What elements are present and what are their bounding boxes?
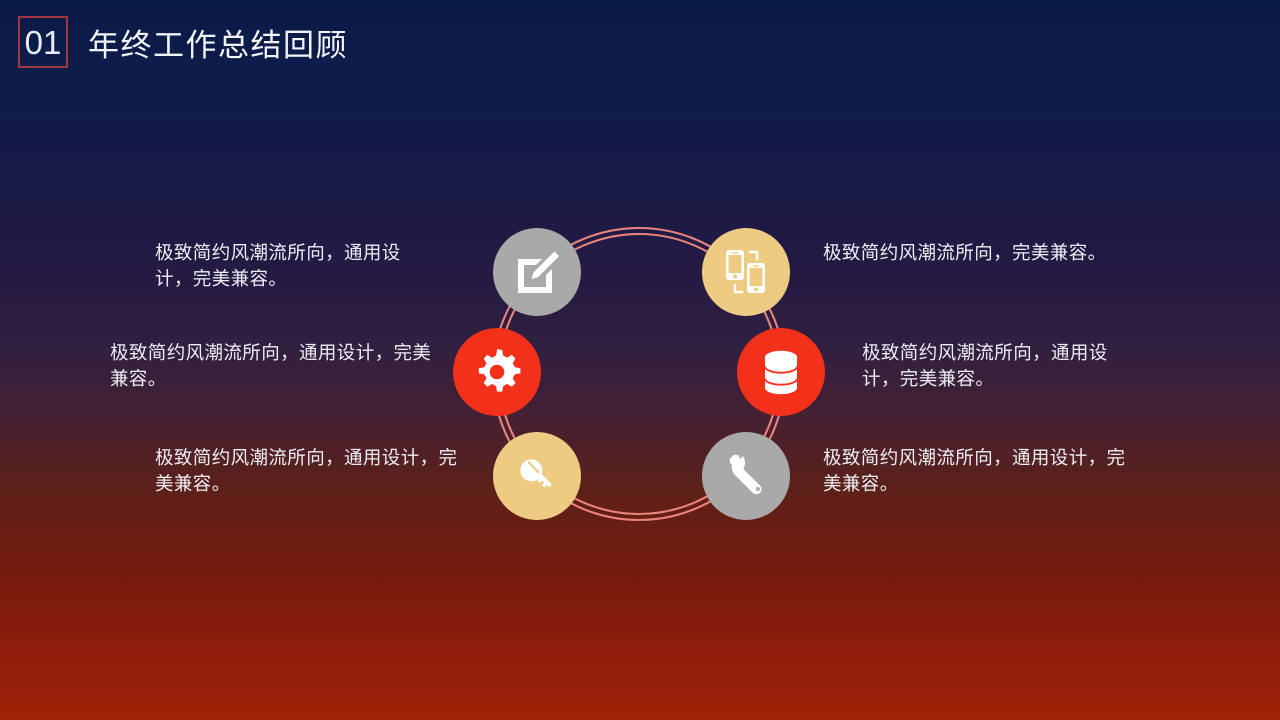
caption-top-left: 极致简约风潮流所向，通用设计，完美兼容。 (155, 241, 433, 294)
mobile-devices-icon (720, 246, 772, 298)
page-title: 年终工作总结回顾 (88, 20, 348, 65)
section-number: 01 (25, 26, 62, 59)
caption-bottom-right: 极致简约风潮流所向，通用设计，完美兼容。 (823, 446, 1143, 499)
database-icon (758, 347, 804, 397)
slide-canvas: 01 年终工作总结回顾 (0, 0, 1280, 720)
node-database[interactable] (737, 328, 825, 416)
wrench-icon (721, 451, 771, 501)
caption-top-right: 极致简约风潮流所向，完美兼容。 (823, 241, 1143, 267)
caption-middle-right: 极致简约风潮流所向，通用设计，完美兼容。 (862, 341, 1144, 394)
node-wrench[interactable] (702, 432, 790, 520)
edit-pencil-icon (513, 248, 561, 296)
key-icon (512, 451, 562, 501)
slide-header: 01 年终工作总结回顾 (0, 0, 1280, 90)
section-number-badge: 01 (18, 16, 68, 68)
node-key[interactable] (493, 432, 581, 520)
gear-icon (472, 347, 522, 397)
node-edit[interactable] (493, 228, 581, 316)
caption-middle-left: 极致简约风潮流所向，通用设计，完美兼容。 (110, 341, 435, 394)
node-mobile-devices[interactable] (702, 228, 790, 316)
caption-bottom-left: 极致简约风潮流所向，通用设计，完美兼容。 (155, 446, 468, 499)
node-gear[interactable] (453, 328, 541, 416)
circular-process-diagram (440, 200, 840, 540)
